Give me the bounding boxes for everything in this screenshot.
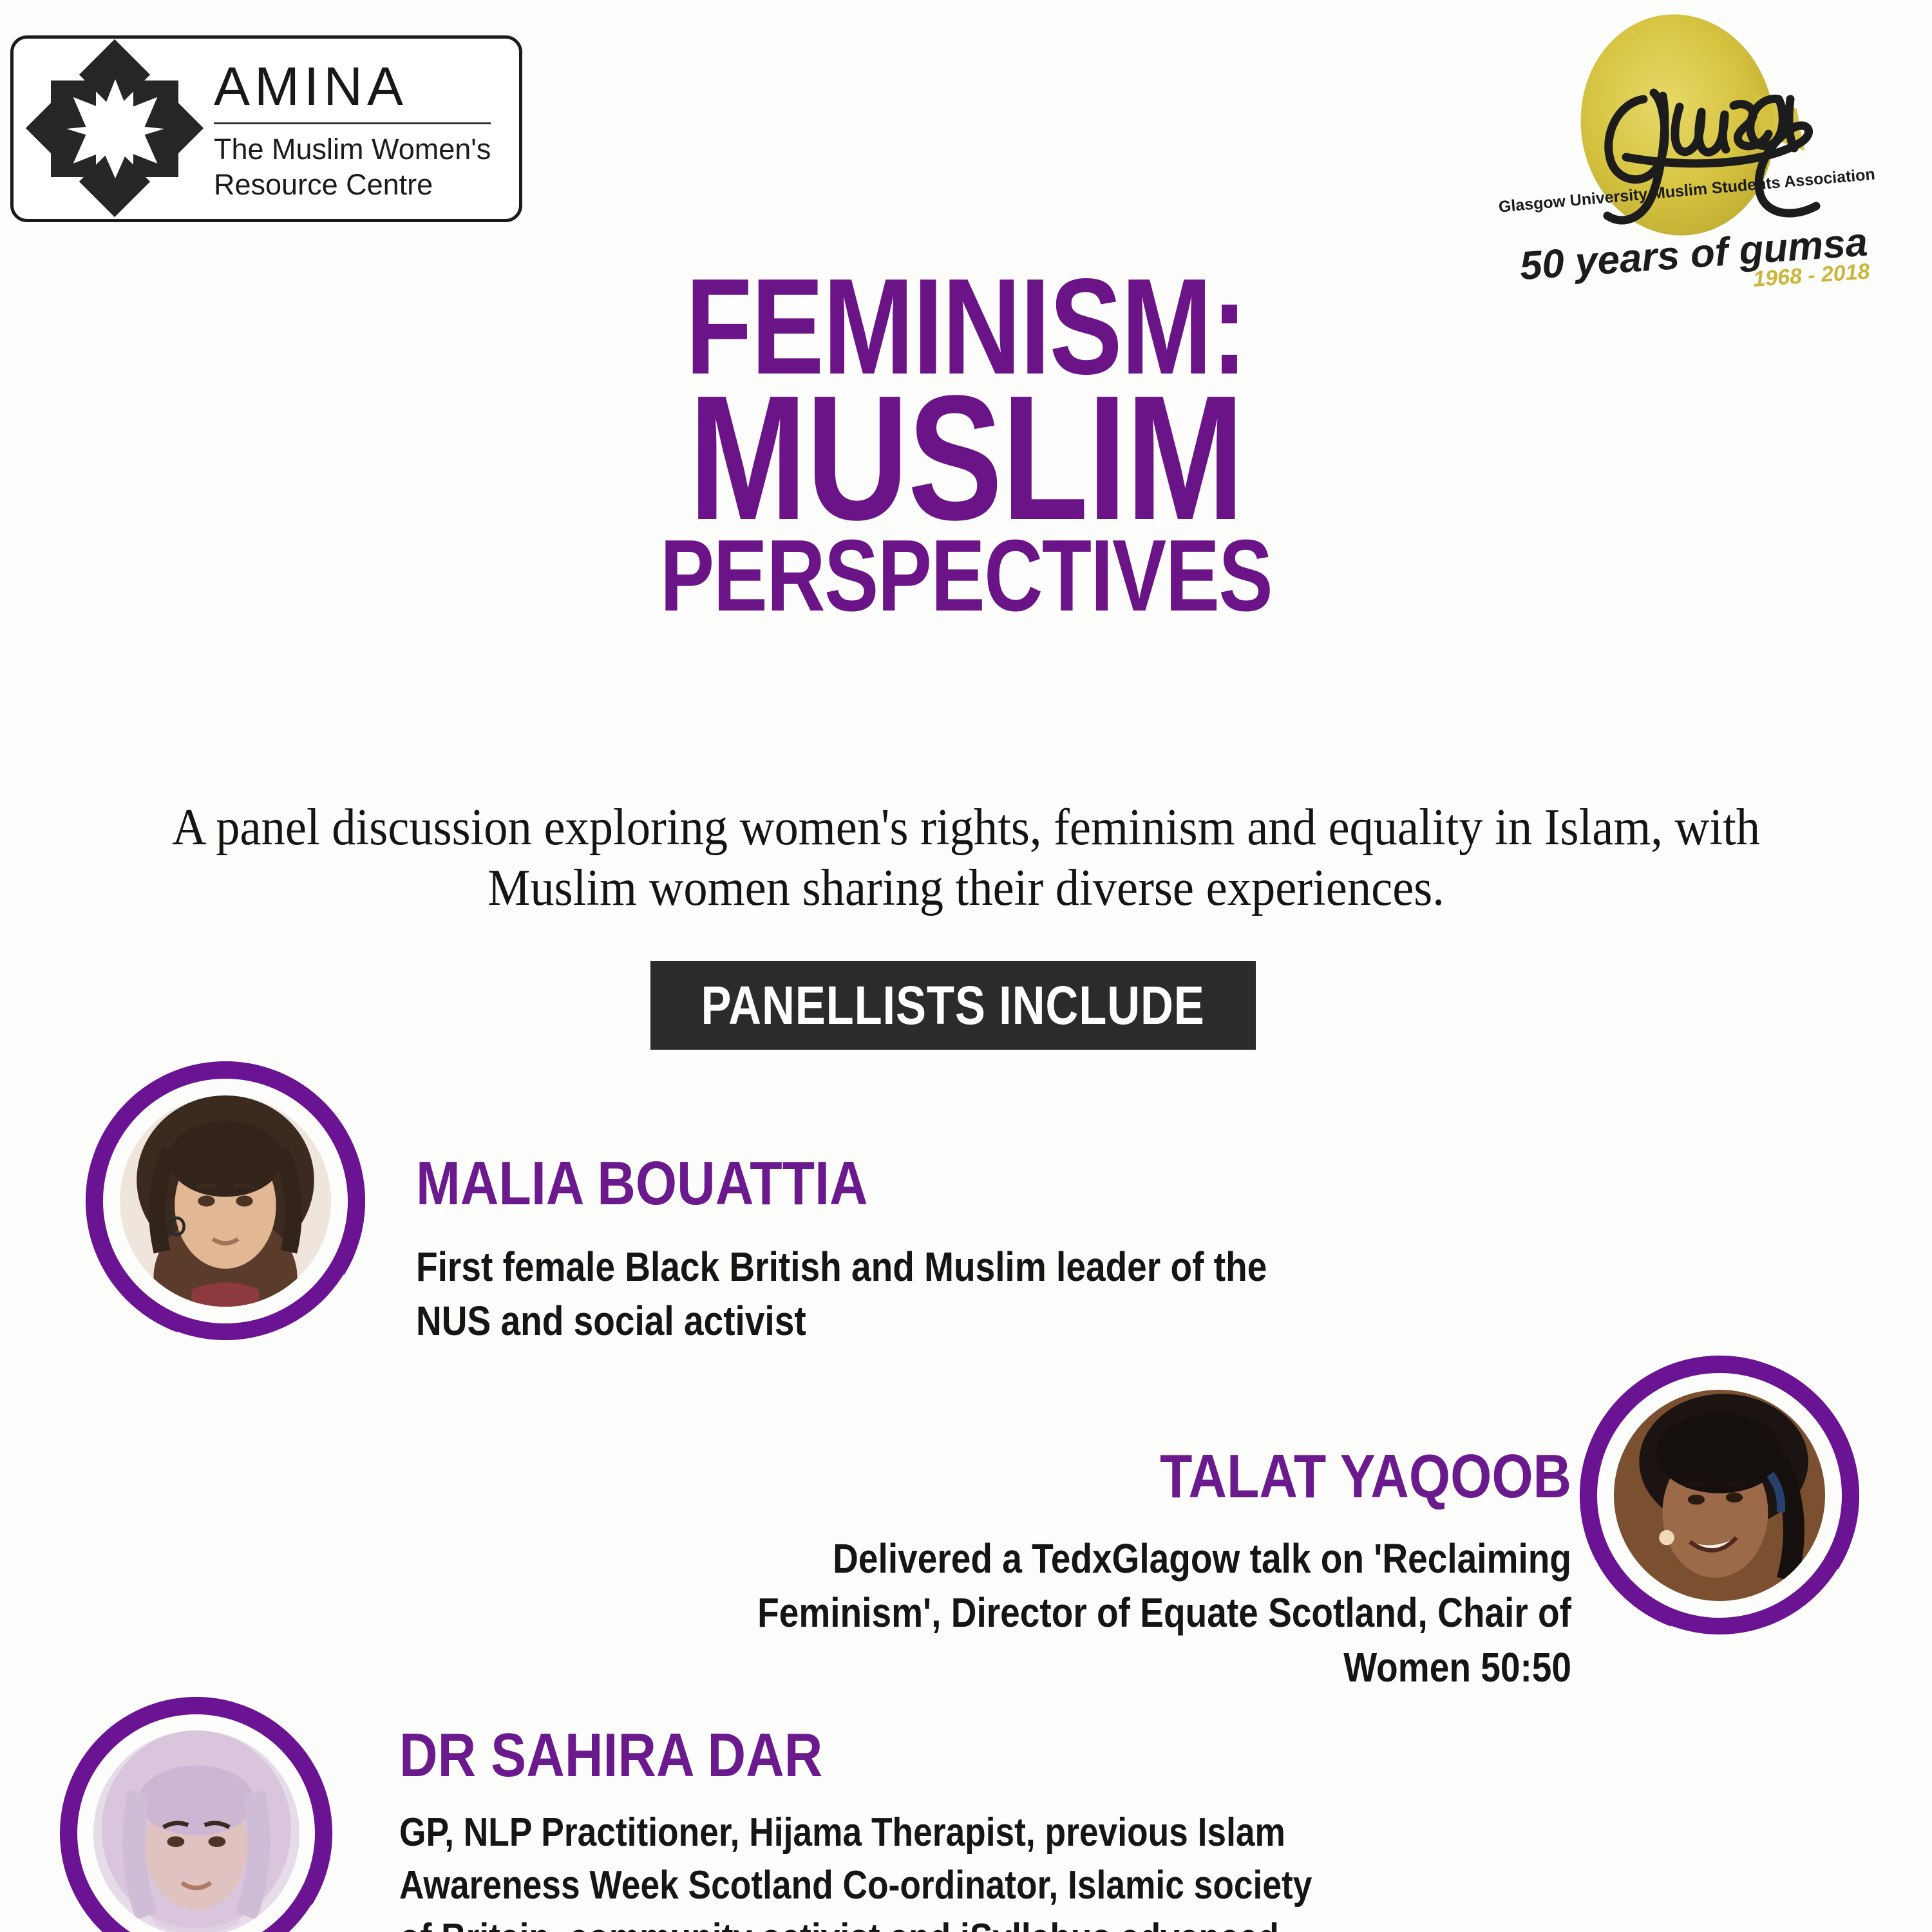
amina-tagline-line2: Resource Centre <box>214 167 491 203</box>
poster-subtitle: A panel discussion exploring women's rig… <box>148 797 1783 918</box>
poster-title: FEMINISM: MUSLIM PERSPECTIVES <box>0 269 1932 619</box>
portrait-malia-bouattia <box>120 1095 331 1307</box>
panellists-banner: PANELLISTS INCLUDE <box>650 961 1256 1050</box>
gumsa-logo: Glasgow University Muslim Students Assoc… <box>1494 3 1919 305</box>
avatar <box>97 1072 354 1330</box>
amina-logo: AMINA The Muslim Women's Resource Centre <box>10 35 522 222</box>
panelist-name: DR SAHIRA DAR <box>399 1725 822 1786</box>
avatar <box>71 1708 322 1932</box>
portrait-talat-yaqoob <box>1614 1390 1825 1601</box>
panelist-description: First female Black British and Muslim le… <box>416 1240 1280 1349</box>
portrait-dr-sahira-dar <box>93 1730 299 1932</box>
event-poster: AMINA The Muslim Women's Resource Centre <box>0 0 1932 1932</box>
amina-wordmark: AMINA <box>214 59 491 113</box>
panellists-banner-label: PANELLISTS INCLUDE <box>701 974 1205 1037</box>
avatar <box>1591 1367 1848 1624</box>
panelist-description: Delivered a TedxGlagow talk on 'Reclaimi… <box>641 1531 1571 1694</box>
title-line-3: PERSPECTIVES <box>193 533 1739 619</box>
eight-point-star-icon <box>33 48 197 209</box>
panelist-name: MALIA BOUATTIA <box>416 1153 868 1215</box>
title-line-2: MUSLIM <box>193 384 1739 533</box>
amina-divider <box>214 122 491 124</box>
panelist-description: GP, NLP Practitioner, Hijama Therapist, … <box>399 1806 1341 1932</box>
panelist-name: TALAT YAQOOB <box>1160 1446 1571 1508</box>
amina-tagline-line1: The Muslim Women's <box>214 132 491 167</box>
